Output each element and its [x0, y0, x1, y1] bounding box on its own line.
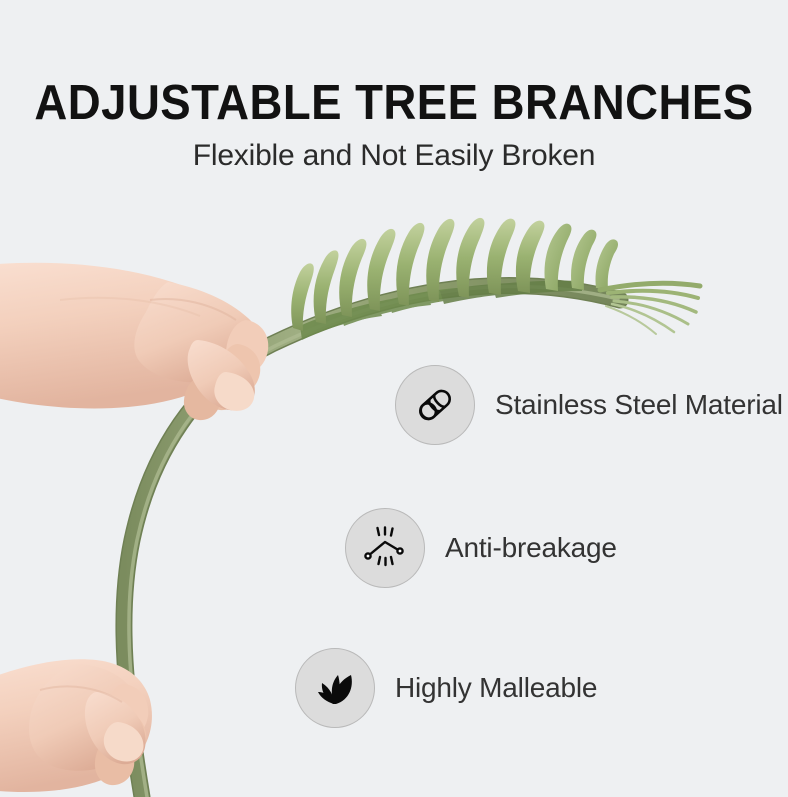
feature-label: Stainless Steel Material [495, 389, 783, 421]
product-feature-banner: ADJUSTABLE TREE BRANCHES Flexible and No… [0, 0, 788, 797]
page-subtitle: Flexible and Not Easily Broken [0, 139, 788, 173]
lower-hand [0, 659, 152, 792]
palm-leaflets [291, 218, 700, 340]
page-title: ADJUSTABLE TREE BRANCHES [28, 78, 761, 130]
feature-icon-circle [395, 365, 475, 445]
steel-rod-icon [413, 383, 457, 427]
upper-hand [0, 263, 268, 420]
feature-item-stainless-steel-material[interactable]: Stainless Steel Material [395, 365, 783, 445]
feature-item-anti-breakage[interactable]: Anti-breakage [345, 508, 617, 588]
feature-item-highly-malleable[interactable]: Highly Malleable [295, 648, 597, 728]
header-block: ADJUSTABLE TREE BRANCHES Flexible and No… [0, 78, 788, 173]
feature-label: Anti-breakage [445, 532, 617, 564]
feature-icon-circle [345, 508, 425, 588]
bent-bar-anti-breakage-icon [362, 525, 408, 571]
feature-icon-circle [295, 648, 375, 728]
feature-label: Highly Malleable [395, 672, 597, 704]
leaves-icon [313, 666, 357, 710]
